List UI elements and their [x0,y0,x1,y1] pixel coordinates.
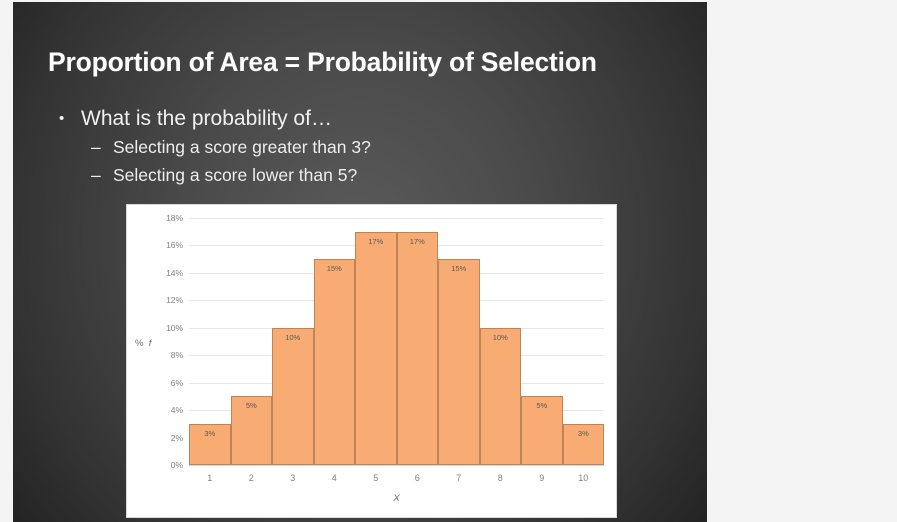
bullet-dash-icon: – [91,135,101,160]
x-axis-tick-label: 3 [290,473,295,483]
bar-value-label: 17% [356,237,396,246]
x-axis-tick-label: 8 [498,473,503,483]
bar: 10% [480,328,522,465]
gridline [189,218,604,219]
list-item: • What is the probability of… [51,104,671,133]
bar: 17% [397,232,439,465]
y-axis-tick-label: 12% [137,295,183,305]
bar: 3% [563,424,605,465]
y-axis-tick-label: 16% [137,240,183,250]
bullet-dash-icon: – [91,163,101,188]
bar-value-label: 5% [522,401,562,410]
list-item: – Selecting a score lower than 5? [51,163,671,188]
page-title: Proportion of Area = Probability of Sele… [48,47,688,77]
y-axis-tick-label: 2% [137,433,183,443]
y-axis-tick-label: 4% [137,405,183,415]
bullet-dot-icon: • [59,104,64,133]
bar-value-label: 10% [481,333,521,342]
bar-value-label: 10% [273,333,313,342]
bar-value-label: 5% [232,401,272,410]
y-axis-tick-label: 0% [137,460,183,470]
x-axis-tick-label: 9 [539,473,544,483]
y-axis-tick-label: 14% [137,268,183,278]
bar: 5% [231,396,273,465]
bar: 3% [189,424,231,465]
y-axis-tick-label: 18% [137,213,183,223]
x-axis-tick-label: 7 [456,473,461,483]
bar-value-label: 17% [398,237,438,246]
x-axis-title: X [189,493,604,504]
list-item-label: What is the probability of… [81,107,332,130]
bar-value-label: 15% [439,264,479,273]
x-axis-tick-label: 5 [373,473,378,483]
list-item-label: Selecting a score lower than 5? [113,165,357,185]
bar: 15% [314,259,356,465]
bar-value-label: 15% [315,264,355,273]
bar-value-label: 3% [564,429,604,438]
y-axis-tick-label: 8% [137,350,183,360]
bar: 10% [272,328,314,465]
x-axis-tick-label: 10 [578,473,588,483]
bar-value-label: 3% [190,429,230,438]
list-item-label: Selecting a score greater than 3? [113,137,371,157]
bar: 15% [438,259,480,465]
presentation-slide: Proportion of Area = Probability of Sele… [13,2,707,522]
bullet-list: • What is the probability of… – Selectin… [51,104,671,188]
x-axis-tick-label: 2 [249,473,254,483]
x-axis-tick-label: 4 [332,473,337,483]
x-axis-tick-label: 1 [207,473,212,483]
x-axis-tick-labels: 12345678910 [189,473,604,489]
y-axis-tick-label: 6% [137,378,183,388]
plot-area: 3%5%10%15%17%17%15%10%5%3% [189,218,604,465]
bar: 5% [521,396,563,465]
y-axis-tick-label: 10% [137,323,183,333]
x-axis-tick-label: 6 [415,473,420,483]
y-axis-tick-labels: 0%2%4%6%8%10%12%14%16%18% [127,218,183,465]
histogram-chart: % f 0%2%4%6%8%10%12%14%16%18% 3%5%10%15%… [126,204,617,518]
gridline [189,465,604,466]
list-item: – Selecting a score greater than 3? [51,135,671,160]
bar: 17% [355,232,397,465]
